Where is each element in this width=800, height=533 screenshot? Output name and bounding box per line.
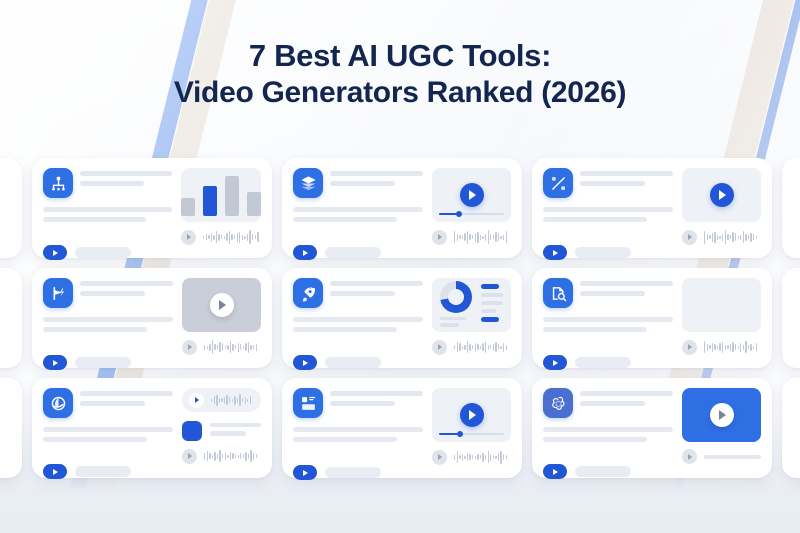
play-button[interactable] [210, 293, 234, 317]
card-title-placeholder [580, 168, 673, 191]
title-line-1: 7 Best AI UGC Tools: [0, 38, 800, 75]
flag-bolt-icon [43, 278, 73, 308]
tool-card-9[interactable] [532, 378, 772, 478]
openai-bloom-icon [543, 388, 573, 418]
card-title-placeholder [580, 278, 673, 301]
progress-pill [575, 466, 631, 477]
progress-pill [75, 357, 131, 368]
play-button[interactable] [43, 355, 67, 370]
audio-strip[interactable] [682, 229, 761, 245]
waveform-icon [454, 229, 511, 245]
tool-card-partial-right-2[interactable] [782, 268, 800, 368]
card-row-1 [0, 158, 800, 258]
tool-card-3[interactable] [532, 158, 772, 258]
tool-card-partial-left-3[interactable] [0, 378, 22, 478]
waveform-icon [704, 339, 761, 355]
card-row-3 [0, 378, 800, 478]
play-button[interactable] [293, 355, 317, 370]
tool-card-partial-left-2[interactable] [0, 268, 22, 368]
card-footer [293, 245, 511, 260]
card-title-placeholder [80, 278, 173, 301]
play-button[interactable] [543, 245, 567, 260]
video-progress-bar[interactable] [439, 213, 504, 216]
card-title-placeholder [330, 168, 423, 191]
card-body-placeholder [43, 317, 173, 337]
donut-legend-lines [440, 317, 472, 327]
card-body-placeholder [293, 427, 423, 447]
video-preview[interactable] [432, 388, 511, 442]
play-icon[interactable] [189, 393, 204, 408]
candlestick-chart [682, 278, 761, 332]
play-button[interactable] [460, 403, 484, 427]
dashboard-legend [481, 284, 503, 326]
card-body-placeholder [543, 317, 673, 337]
play-icon[interactable] [682, 230, 697, 245]
progress-pill [325, 467, 381, 478]
hierarchy-icon [43, 168, 73, 198]
play-icon[interactable] [682, 449, 697, 464]
video-preview[interactable] [682, 168, 761, 222]
magic-wand-icon [543, 168, 573, 198]
waveform-icon [454, 339, 511, 355]
thumbnail [182, 421, 202, 441]
tool-card-8[interactable] [282, 378, 522, 478]
play-button[interactable] [293, 465, 317, 480]
progress-pill [575, 247, 631, 258]
play-button[interactable] [460, 183, 484, 207]
tool-card-5[interactable] [282, 268, 522, 368]
tool-card-7[interactable] [32, 378, 272, 478]
play-button[interactable] [710, 403, 734, 427]
audio-strip[interactable] [682, 339, 761, 355]
play-button[interactable] [543, 464, 567, 479]
rocket-icon [293, 278, 323, 308]
thumbnail-row [182, 421, 261, 441]
tool-card-1[interactable] [32, 158, 272, 258]
play-icon[interactable] [181, 230, 196, 245]
play-button[interactable] [43, 245, 67, 260]
waveform-icon [454, 449, 511, 465]
play-icon[interactable] [182, 449, 197, 464]
progress-pill [575, 357, 631, 368]
card-body-placeholder [543, 207, 673, 227]
waveform-icon [204, 339, 261, 355]
waveform-icon [204, 448, 261, 464]
waveform-icon [203, 229, 261, 245]
video-preview[interactable] [682, 388, 761, 442]
card-title-placeholder [330, 278, 423, 301]
waveform-icon [211, 392, 254, 408]
audio-player-card[interactable] [182, 388, 261, 412]
bar-chart [181, 168, 261, 222]
video-preview[interactable] [432, 168, 511, 222]
tool-card-6[interactable] [532, 268, 772, 368]
card-title-placeholder [80, 388, 173, 411]
progress-bar[interactable] [704, 455, 761, 459]
play-button[interactable] [293, 245, 317, 260]
tool-card-partial-right-1[interactable] [782, 158, 800, 258]
video-preview[interactable] [182, 278, 261, 332]
card-body-placeholder [293, 207, 423, 227]
audio-strip[interactable] [432, 229, 511, 245]
audio-strip[interactable] [181, 229, 261, 245]
donut-chart [440, 281, 472, 313]
tool-card-4[interactable] [32, 268, 272, 368]
card-footer [543, 355, 761, 370]
play-icon[interactable] [432, 340, 447, 355]
donut-dashboard [432, 278, 511, 332]
card-footer [543, 464, 761, 479]
play-button[interactable] [543, 355, 567, 370]
card-footer [43, 245, 261, 260]
poster-canvas: 7 Best AI UGC Tools: Video Generators Ra… [0, 0, 800, 533]
play-icon[interactable] [432, 230, 447, 245]
analytics-grid-icon [293, 388, 323, 418]
video-progress-bar[interactable] [439, 433, 504, 436]
document-search-icon [543, 278, 573, 308]
tool-card-partial-right-3[interactable] [782, 378, 800, 478]
card-row-2 [0, 268, 800, 368]
audio-strip[interactable] [682, 449, 761, 464]
card-footer [293, 355, 511, 370]
play-button[interactable] [710, 183, 734, 207]
card-footer [43, 355, 261, 370]
title-line-2: Video Generators Ranked (2026) [0, 75, 800, 110]
progress-pill [325, 247, 381, 258]
card-body-placeholder [43, 207, 172, 227]
card-title-placeholder [580, 388, 673, 411]
play-icon[interactable] [182, 340, 197, 355]
audio-strip[interactable] [432, 339, 511, 355]
thumbnail-labels [210, 423, 261, 440]
play-button[interactable] [43, 464, 67, 479]
progress-pill [75, 247, 131, 258]
card-footer [543, 245, 761, 260]
audio-strip[interactable] [182, 339, 261, 355]
layers-icon [293, 168, 323, 198]
waveform-icon [704, 229, 761, 245]
card-title-placeholder [330, 388, 423, 411]
audio-strip[interactable] [432, 449, 511, 465]
play-icon[interactable] [432, 450, 447, 465]
tool-card-grid [0, 158, 800, 488]
audio-strip[interactable] [182, 448, 261, 464]
card-body-placeholder [543, 427, 673, 447]
card-footer [43, 464, 261, 479]
card-title-placeholder [80, 168, 172, 191]
tool-card-2[interactable] [282, 158, 522, 258]
tool-card-partial-left-1[interactable] [0, 158, 22, 258]
card-body-placeholder [43, 427, 173, 447]
progress-pill [75, 466, 131, 477]
swirl-globe-icon [43, 388, 73, 418]
page-title: 7 Best AI UGC Tools: Video Generators Ra… [0, 38, 800, 110]
card-footer [293, 465, 511, 480]
card-body-placeholder [293, 317, 423, 337]
play-icon[interactable] [682, 340, 697, 355]
progress-pill [325, 357, 381, 368]
